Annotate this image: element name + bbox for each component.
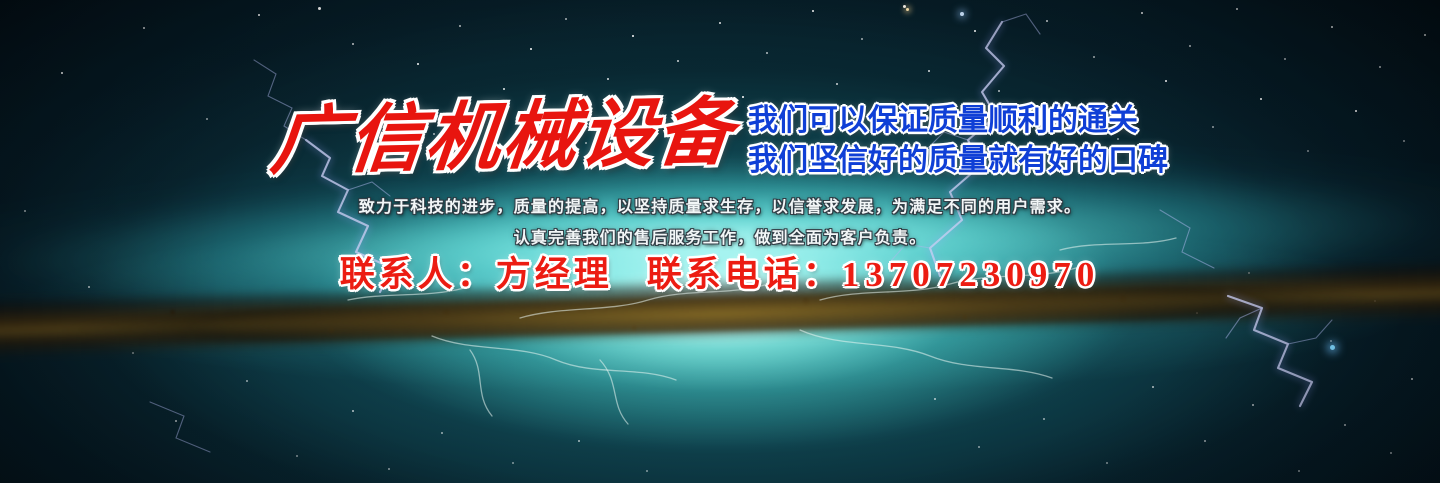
title-row: 广信机械设备 我们可以保证质量顺利的通关 我们坚信好的质量就有好的口碑	[0, 96, 1440, 180]
description-line-1: 致力于科技的进步，质量的提高，以坚持质量求生存，以信誉求发展，为满足不同的用户需…	[0, 193, 1440, 217]
contact-person-label: 联系人：	[340, 255, 496, 294]
description-line-2: 认真完善我们的售后服务工作，做到全面为客户负责。	[0, 224, 1440, 248]
contact-phone-number[interactable]: 13707230970	[842, 255, 1101, 294]
slogan-group: 我们可以保证质量顺利的通关 我们坚信好的质量就有好的口碑	[748, 102, 1168, 180]
contact-line: 联系人：方经理联系电话：13707230970	[0, 255, 1440, 295]
slogan-line-2: 我们坚信好的质量就有好的口碑	[748, 142, 1168, 180]
contact-person-name: 方经理	[496, 255, 613, 294]
slogan-line-1: 我们可以保证质量顺利的通关	[748, 102, 1168, 140]
page-title: 广信机械设备	[268, 96, 739, 180]
contact-phone-label: 联系电话：	[647, 255, 842, 294]
banner-content: 广信机械设备 我们可以保证质量顺利的通关 我们坚信好的质量就有好的口碑 致力于科…	[0, 0, 1440, 483]
promo-banner: 广信机械设备 我们可以保证质量顺利的通关 我们坚信好的质量就有好的口碑 致力于科…	[0, 0, 1440, 483]
